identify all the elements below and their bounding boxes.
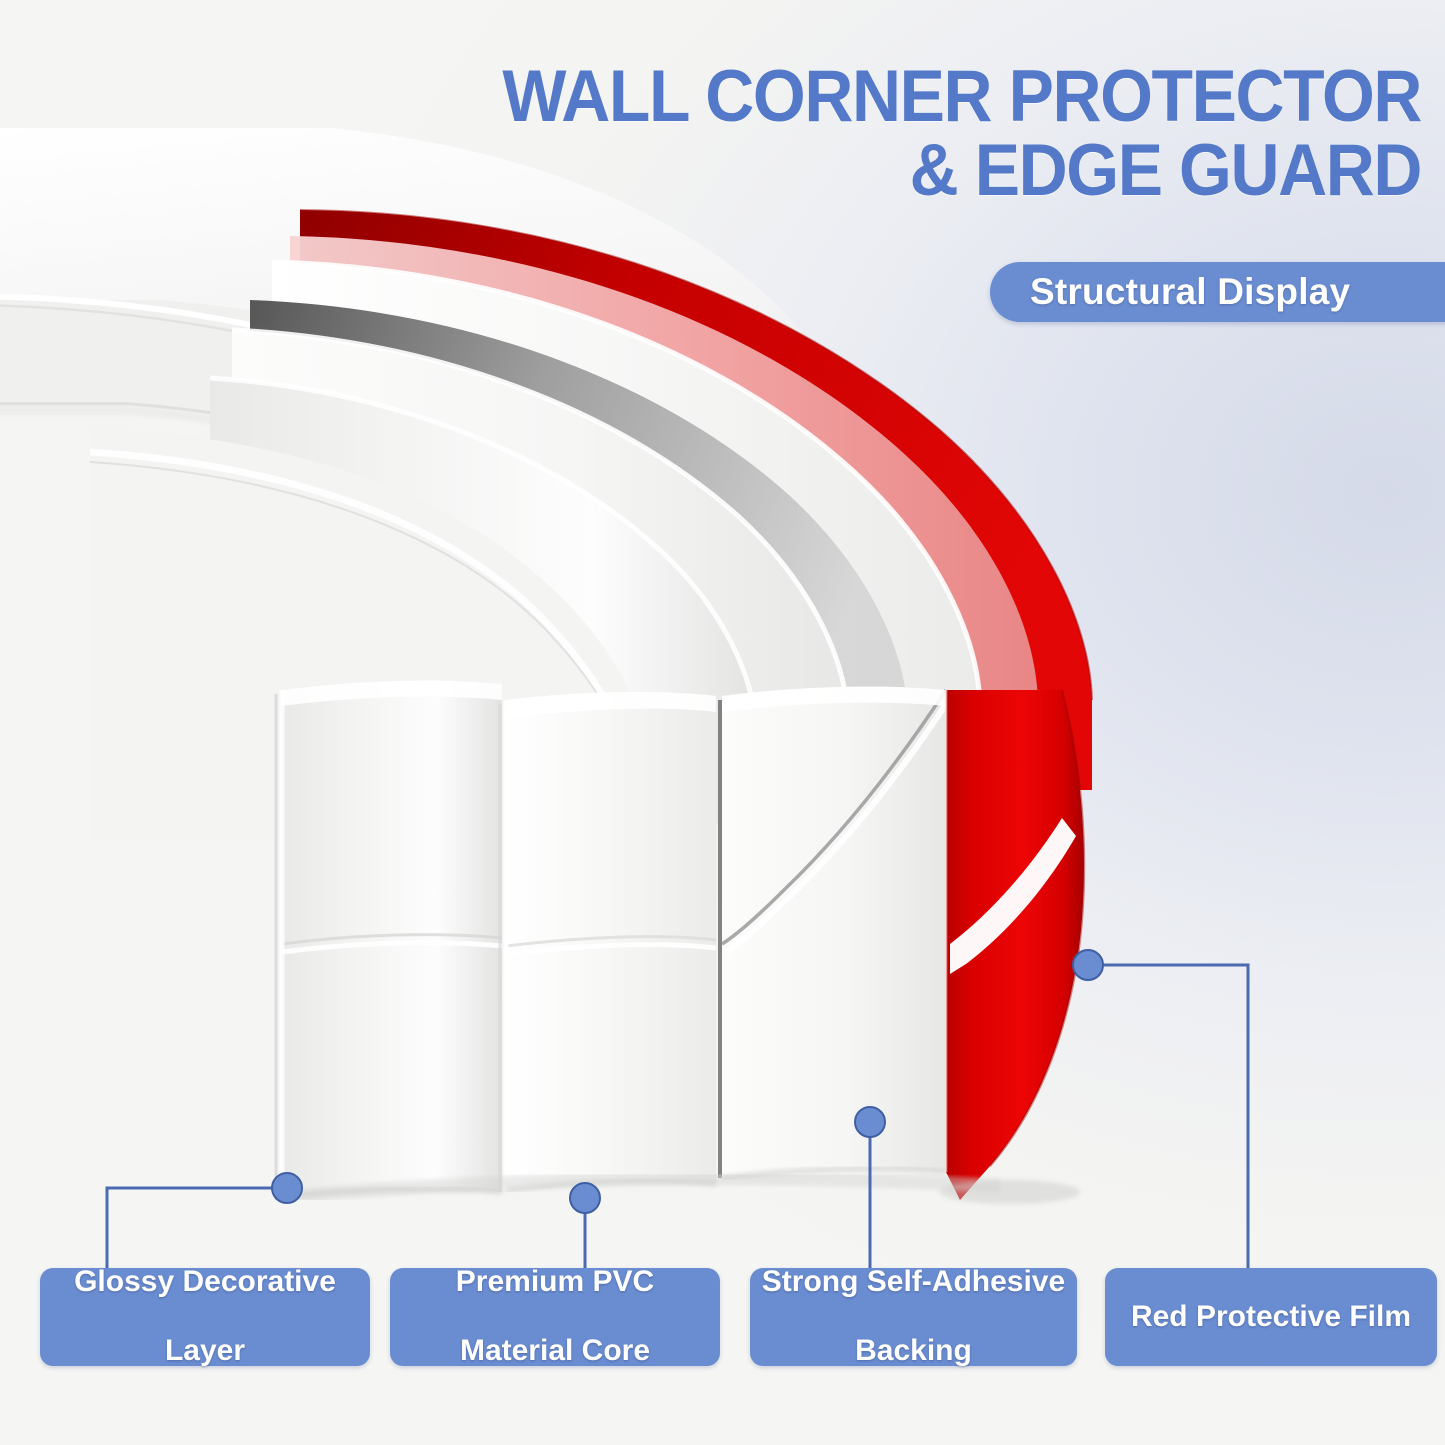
leader-line-film [1088,965,1248,1268]
structural-display-badge-label: Structural Display [1030,271,1350,313]
callout-glossy-line-2: Layer [74,1334,336,1369]
page-title-line-2: & EDGE GUARD [324,134,1421,208]
band-adhesive-backing [720,687,950,1178]
callout-glossy-decorative-layer: Glossy Decorative Layer [40,1268,370,1366]
structural-display-badge: Structural Display [990,262,1445,322]
infographic-canvas: WALL CORNER PROTECTOR & EDGE GUARD Struc… [0,0,1445,1445]
callout-glossy-text: Glossy Decorative Layer [74,1265,336,1369]
leader-dot-pvc [570,1183,600,1213]
callout-film-text: Red Protective Film [1131,1300,1411,1335]
leader-dot-adhesive [855,1107,885,1137]
callout-film-line-1: Red Protective Film [1131,1300,1411,1335]
callout-pvc-text: Premium PVC Material Core [456,1265,654,1369]
callout-premium-pvc-material-core: Premium PVC Material Core [390,1268,720,1366]
band-red-film [940,690,1084,1204]
callout-adhesive-line-2: Backing [762,1334,1065,1369]
callout-glossy-line-1: Glossy Decorative [74,1265,336,1300]
leader-dot-glossy [272,1173,302,1203]
page-title-line-1: WALL CORNER PROTECTOR [324,60,1421,134]
callout-red-protective-film: Red Protective Film [1105,1268,1437,1366]
product-illustration [0,0,1445,1445]
callout-adhesive-line-1: Strong Self-Adhesive [762,1265,1065,1300]
callout-pvc-line-1: Premium PVC [456,1265,654,1300]
callout-row: Glossy Decorative Layer Premium PVC Mate… [0,1268,1445,1368]
band-pvc-core [500,692,716,1192]
leader-line-glossy [107,1188,287,1268]
callout-adhesive-text: Strong Self-Adhesive Backing [762,1265,1065,1369]
callout-pvc-line-2: Material Core [456,1334,654,1369]
leader-dot-film [1073,950,1103,980]
band-glossy-decorative [276,681,502,1200]
callout-strong-self-adhesive-backing: Strong Self-Adhesive Backing [750,1268,1077,1366]
page-title: WALL CORNER PROTECTOR & EDGE GUARD [324,60,1421,209]
